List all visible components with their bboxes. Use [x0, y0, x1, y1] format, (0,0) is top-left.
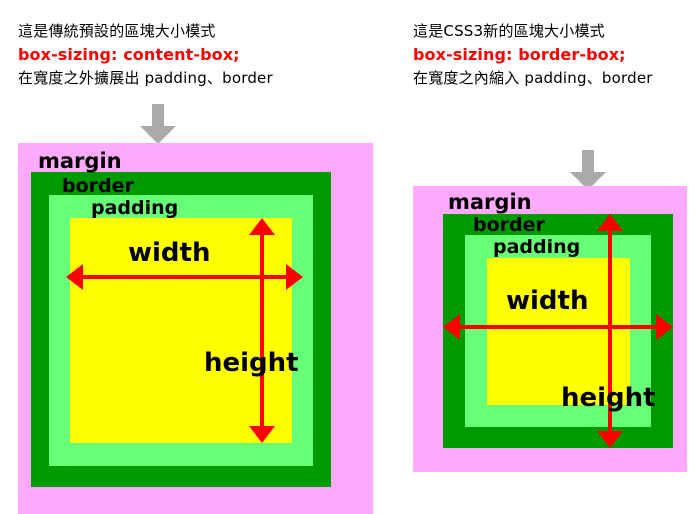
margin-label: margin [38, 149, 122, 173]
right-caption-line3: 在寬度之內縮入 padding、border [413, 67, 653, 90]
width-arrow-right-tip [286, 264, 303, 290]
margin-label: margin [448, 190, 532, 214]
left-caption-line3: 在寬度之外擴展出 padding、border [18, 67, 273, 90]
down-arrow-head [140, 126, 176, 144]
width-label: width [506, 286, 588, 316]
height-arrow-icon [248, 218, 275, 443]
width-arrow-icon [443, 313, 673, 340]
left-caption-line1: 這是傳統預設的區塊大小模式 [18, 20, 273, 43]
height-arrow-line [260, 229, 264, 432]
right-caption-line1: 這是CSS3新的區塊大小模式 [413, 20, 653, 43]
border-box-diagram: margin border padding width height [413, 186, 687, 472]
width-label: width [128, 238, 210, 268]
down-arrow-icon [570, 150, 606, 190]
height-label: height [561, 383, 656, 413]
padding-label: padding [493, 236, 580, 258]
down-arrow-shaft [152, 104, 164, 128]
width-arrow-line [454, 325, 662, 329]
left-caption-code: box-sizing: content-box; [18, 43, 273, 67]
border-label: border [62, 175, 134, 197]
left-caption-block: 這是傳統預設的區塊大小模式 box-sizing: content-box; 在… [18, 20, 273, 90]
content-box-diagram: margin border padding width height [18, 143, 373, 514]
height-label: height [204, 348, 299, 378]
height-arrow-down-tip [249, 426, 275, 443]
down-arrow-shaft [582, 150, 594, 174]
right-caption-code: box-sizing: border-box; [413, 43, 653, 67]
down-arrow-icon [140, 104, 176, 144]
border-label: border [473, 214, 545, 236]
padding-label: padding [91, 197, 178, 219]
width-arrow-right-tip [656, 314, 673, 340]
right-caption-block: 這是CSS3新的區塊大小模式 box-sizing: border-box; 在… [413, 20, 653, 90]
height-arrow-down-tip [597, 431, 623, 448]
